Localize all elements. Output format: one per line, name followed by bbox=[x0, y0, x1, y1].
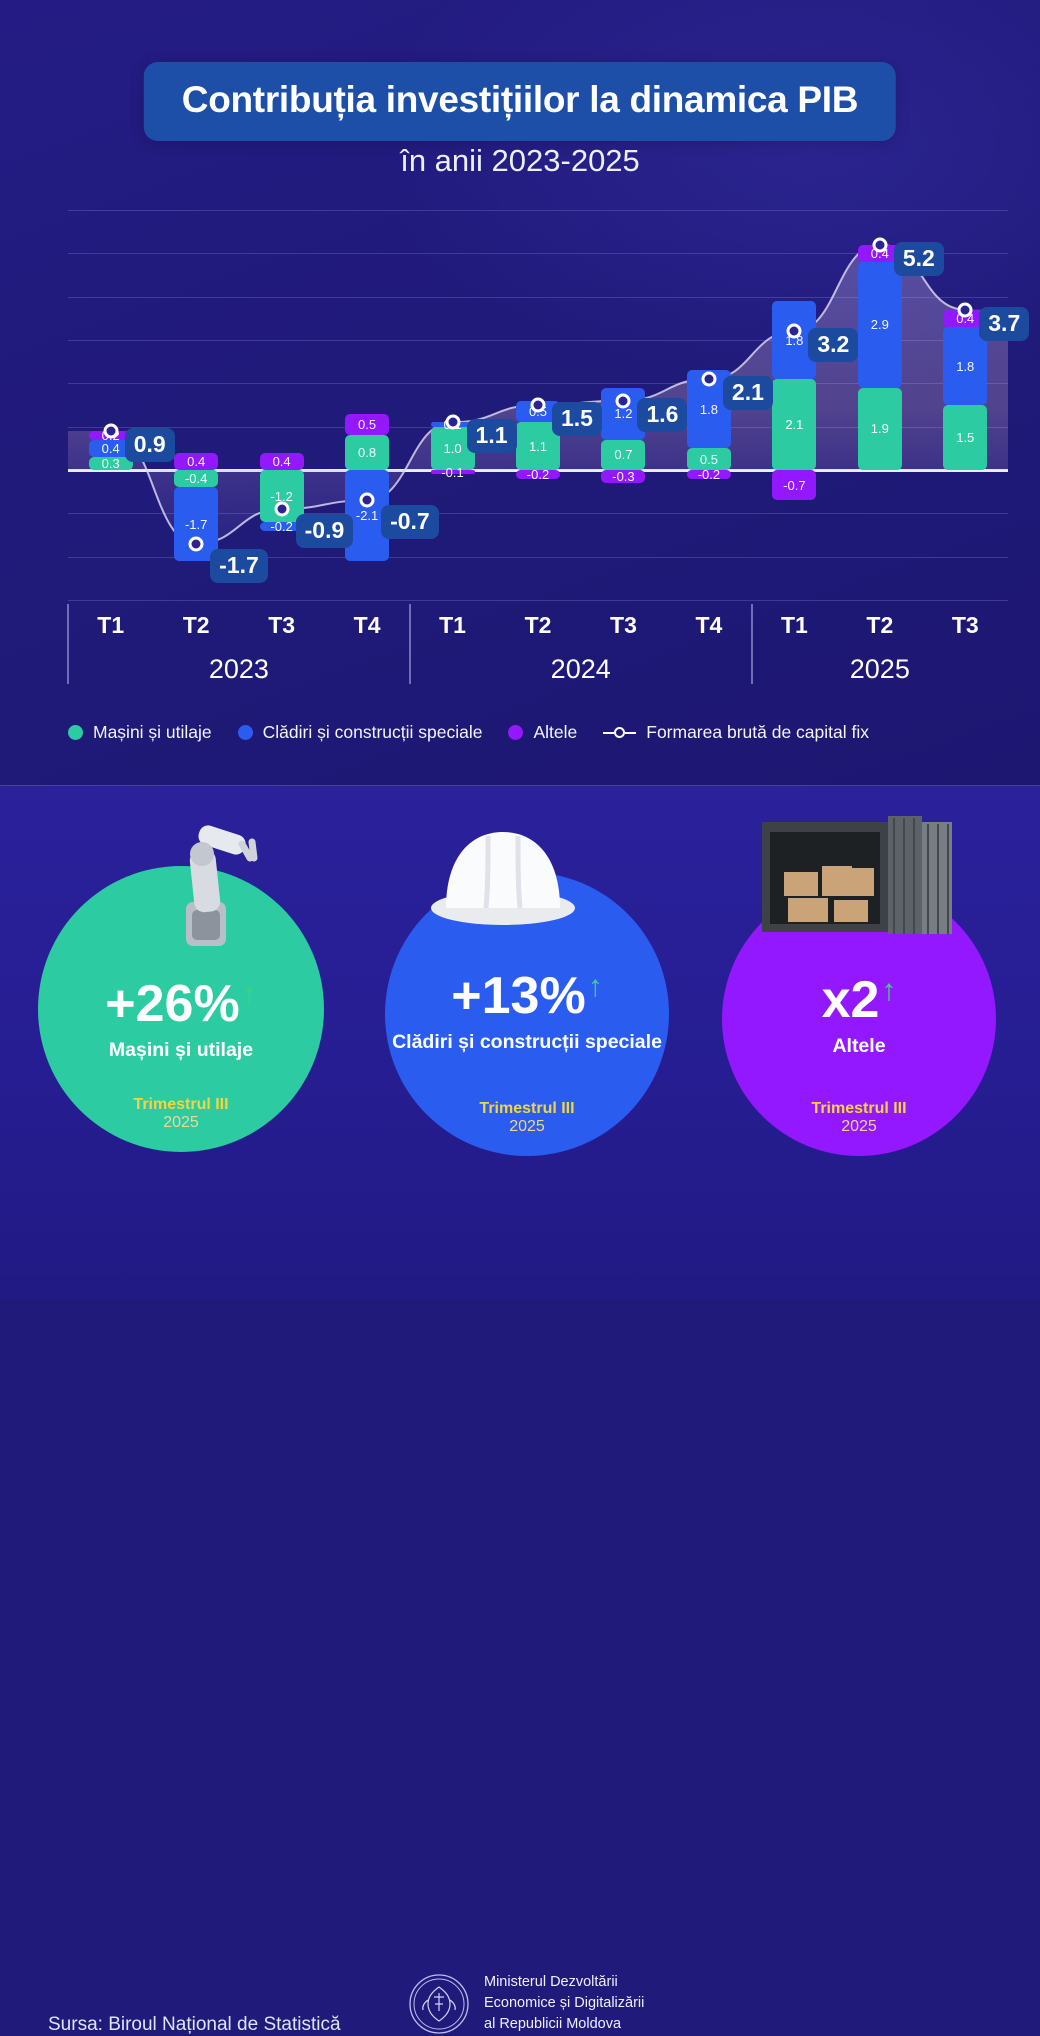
x-axis-quarter-label: T2 bbox=[525, 612, 552, 639]
ministry-line: Economice și Digitalizării bbox=[484, 1993, 644, 2014]
legend-item[interactable]: Clădiri și construcții speciale bbox=[238, 722, 483, 743]
total-value-badge: 1.1 bbox=[467, 419, 517, 453]
x-axis-year-label: 2025 bbox=[850, 654, 910, 685]
bar-segment-value: 0.4 bbox=[187, 454, 205, 469]
line-point-marker[interactable] bbox=[787, 324, 802, 339]
line-point-marker[interactable] bbox=[701, 372, 716, 387]
x-axis: T1T2T3T42023T1T2T3T42024T1T2T32025 bbox=[68, 604, 1008, 694]
bar-segment-value: 1.1 bbox=[529, 439, 547, 454]
highlight-caption: Altele bbox=[832, 1035, 885, 1057]
bar-column[interactable]: 2.11.8-0.7 bbox=[772, 210, 816, 600]
year-separator bbox=[409, 604, 411, 684]
ministry-line: Ministerul Dezvoltării bbox=[484, 1972, 644, 1993]
bar-segment-value: -0.2 bbox=[270, 519, 292, 534]
bar-segment-value: 0.4 bbox=[273, 454, 291, 469]
highlight-year: 2025 bbox=[841, 1118, 877, 1136]
legend-item[interactable]: Mașini și utilaje bbox=[68, 722, 212, 743]
highlight-number: +13% bbox=[451, 970, 585, 1022]
bar-segment[interactable]: -0.3 bbox=[601, 470, 645, 483]
highlight-number: +26% bbox=[105, 978, 239, 1030]
infographic-root: Contribuția investițiilor la dinamica PI… bbox=[0, 0, 1040, 1300]
bar-segment[interactable]: 0.4 bbox=[260, 453, 304, 470]
line-point-marker[interactable] bbox=[189, 536, 204, 551]
legend-item[interactable]: Altele bbox=[508, 722, 577, 743]
bar-segment-value: 1.8 bbox=[956, 359, 974, 374]
ministry-name: Ministerul DezvoltăriiEconomice și Digit… bbox=[484, 1972, 644, 2035]
bar-segment[interactable]: 1.5 bbox=[943, 405, 987, 470]
legend-dot-icon bbox=[508, 725, 523, 740]
line-point-marker[interactable] bbox=[531, 398, 546, 413]
bar-segment[interactable]: 2.9 bbox=[858, 262, 902, 388]
x-axis-year-label: 2023 bbox=[209, 654, 269, 685]
x-axis-quarter-label: T3 bbox=[952, 612, 979, 639]
highlight-number: x2 bbox=[822, 974, 880, 1026]
x-axis-quarter-label: T1 bbox=[439, 612, 466, 639]
line-point-marker[interactable] bbox=[360, 493, 375, 508]
bar-segment-value: 0.5 bbox=[700, 452, 718, 467]
highlight-value: +26%↑ bbox=[105, 978, 256, 1030]
bar-segment[interactable]: -0.1 bbox=[431, 470, 475, 474]
bar-segment[interactable]: -0.2 bbox=[516, 470, 560, 479]
bar-segment-value: 0.8 bbox=[358, 445, 376, 460]
legend-label: Mașini și utilaje bbox=[93, 722, 212, 743]
bar-segment-value: 2.9 bbox=[871, 317, 889, 332]
line-point-marker[interactable] bbox=[274, 502, 289, 517]
bar-segment[interactable]: -0.2 bbox=[687, 470, 731, 479]
bar-column[interactable]: 1.51.80.4 bbox=[943, 210, 987, 600]
bar-segment[interactable]: 1.9 bbox=[858, 388, 902, 470]
total-value-badge: 5.2 bbox=[894, 242, 944, 276]
legend-label: Formarea brută de capital fix bbox=[646, 722, 869, 743]
year-separator bbox=[751, 604, 753, 684]
bar-segment[interactable]: 0.7 bbox=[601, 440, 645, 470]
line-point-marker[interactable] bbox=[103, 424, 118, 439]
bar-segment-value: -2.1 bbox=[356, 508, 378, 523]
highlight-caption: Mașini și utilaje bbox=[109, 1039, 253, 1061]
arrow-up-icon: ↑ bbox=[588, 972, 603, 1002]
page-subtitle: în anii 2023-2025 bbox=[400, 143, 640, 179]
source-note: Sursa: Biroul Național de Statistică bbox=[48, 2014, 341, 2036]
bar-segment-value: 1.5 bbox=[956, 430, 974, 445]
shipping-container-image bbox=[758, 812, 958, 942]
x-axis-quarter-label: T4 bbox=[695, 612, 722, 639]
bar-segment-value: -0.2 bbox=[527, 467, 549, 482]
highlight-year: 2025 bbox=[163, 1114, 199, 1132]
line-point-marker[interactable] bbox=[616, 393, 631, 408]
bar-segment[interactable]: -0.4 bbox=[174, 470, 218, 487]
highlight-period: Trimestrul III bbox=[479, 1100, 574, 1118]
bar-segment-value: -0.1 bbox=[441, 465, 463, 480]
gridline bbox=[68, 600, 1008, 601]
robot-arm-image bbox=[140, 814, 270, 949]
bar-segment-value: -0.3 bbox=[612, 469, 634, 484]
hard-hat-image bbox=[418, 816, 588, 931]
bar-column[interactable]: 1.00.1-0.1 bbox=[431, 210, 475, 600]
legend-item[interactable]: Formarea brută de capital fix bbox=[603, 722, 869, 743]
bar-segment-value: 0.4 bbox=[102, 441, 120, 456]
x-axis-quarter-label: T3 bbox=[268, 612, 295, 639]
total-value-badge: -1.7 bbox=[210, 549, 268, 583]
bar-segment[interactable]: 0.4 bbox=[174, 453, 218, 470]
bar-segment-value: -1.7 bbox=[185, 517, 207, 532]
bar-segment[interactable]: 2.1 bbox=[772, 379, 816, 470]
arrow-up-icon: ↑ bbox=[881, 976, 896, 1006]
chart-panel: Contribuția investițiilor la dinamica PI… bbox=[0, 0, 1040, 786]
ministry-line: al Republicii Moldova bbox=[484, 2014, 644, 2035]
bar-segment[interactable]: 0.5 bbox=[345, 414, 389, 436]
bar-segment-value: 0.7 bbox=[614, 447, 632, 462]
bar-segment-value: 1.2 bbox=[614, 406, 632, 421]
bar-segment-value: 0.3 bbox=[102, 456, 120, 471]
total-value-badge: 3.2 bbox=[808, 328, 858, 362]
bar-segment[interactable]: 1.8 bbox=[943, 327, 987, 405]
legend-label: Clădiri și construcții speciale bbox=[263, 722, 483, 743]
highlight-period: Trimestrul III bbox=[811, 1100, 906, 1118]
chart-plot-area: 6.05.04.03.02.01.00.0-1.0-2.0-3.0 0.30.4… bbox=[68, 210, 1008, 600]
total-value-badge: 2.1 bbox=[723, 376, 773, 410]
x-axis-quarter-label: T2 bbox=[183, 612, 210, 639]
bar-column[interactable]: 0.30.40.2 bbox=[89, 210, 133, 600]
line-point-marker[interactable] bbox=[958, 302, 973, 317]
bar-segment[interactable]: 0.8 bbox=[345, 435, 389, 470]
total-value-badge: 0.9 bbox=[125, 428, 175, 462]
legend-label: Altele bbox=[533, 722, 577, 743]
bar-segment-value: 1.0 bbox=[443, 441, 461, 456]
x-axis-year-label: 2024 bbox=[551, 654, 611, 685]
moldova-emblem-icon bbox=[408, 1973, 470, 2035]
line-point-marker[interactable] bbox=[872, 237, 887, 252]
total-value-badge: 1.6 bbox=[637, 398, 687, 432]
bar-segment-value: -0.4 bbox=[185, 471, 207, 486]
highlight-value: +13%↑ bbox=[451, 970, 602, 1022]
x-axis-quarter-label: T1 bbox=[781, 612, 808, 639]
total-value-badge: -0.9 bbox=[296, 514, 354, 548]
bar-segment-value: 0.5 bbox=[358, 417, 376, 432]
highlights-panel: +26%↑Mașini și utilajeTrimestrul III2025… bbox=[0, 786, 1040, 1300]
highlight-period: Trimestrul III bbox=[133, 1096, 228, 1114]
arrow-up-icon: ↑ bbox=[242, 980, 257, 1010]
legend-dot-icon bbox=[238, 725, 253, 740]
line-point-marker[interactable] bbox=[445, 415, 460, 430]
legend-line-marker-icon bbox=[603, 727, 636, 738]
total-value-badge: -0.7 bbox=[381, 505, 439, 539]
total-value-badge: 1.5 bbox=[552, 402, 602, 436]
x-axis-quarter-label: T4 bbox=[354, 612, 381, 639]
bar-segment-value: -0.7 bbox=[783, 478, 805, 493]
bar-segment-value: 1.8 bbox=[700, 402, 718, 417]
year-separator bbox=[67, 604, 69, 684]
page-title: Contribuția investițiilor la dinamica PI… bbox=[144, 62, 896, 141]
bar-segment-value: -0.2 bbox=[698, 467, 720, 482]
bar-segment[interactable]: -0.7 bbox=[772, 470, 816, 500]
total-value-badge: 3.7 bbox=[979, 307, 1029, 341]
bar-segment-value: 2.1 bbox=[785, 417, 803, 432]
ministry-block: Ministerul DezvoltăriiEconomice și Digit… bbox=[408, 1972, 644, 2035]
highlight-caption: Clădiri și construcții speciale bbox=[392, 1031, 662, 1053]
highlight-year: 2025 bbox=[509, 1118, 545, 1136]
highlight-value: x2↑ bbox=[822, 974, 897, 1026]
x-axis-quarter-label: T3 bbox=[610, 612, 637, 639]
bar-segment-value: 1.9 bbox=[871, 421, 889, 436]
x-axis-quarter-label: T2 bbox=[866, 612, 893, 639]
chart-legend: Mașini și utilajeClădiri și construcții … bbox=[68, 722, 869, 743]
legend-dot-icon bbox=[68, 725, 83, 740]
x-axis-quarter-label: T1 bbox=[97, 612, 124, 639]
